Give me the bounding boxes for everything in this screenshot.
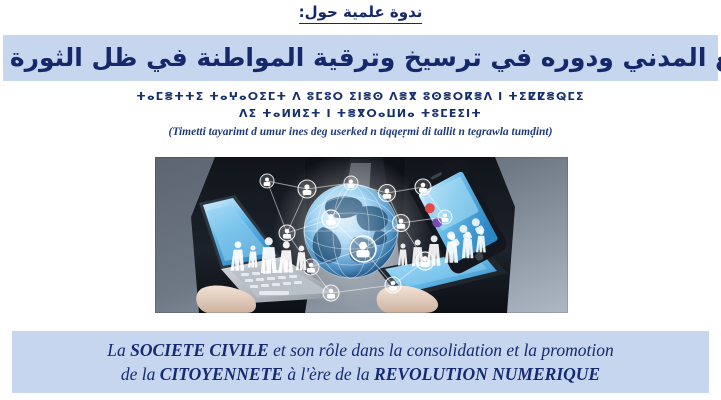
french-l1-tail: et son rôle dans la consolidation et la … xyxy=(269,340,614,360)
tifinagh-title-line-2: ⴷⵉ ⵜⴰⵍⵍⵉⵜ ⵏ ⵜⴻⴳⵔⴰⵡⵍⴰ ⵜⵓⵎⴹⵉⵏⵜ xyxy=(0,105,721,122)
french-emphasis-revolution-numerique: REVOLUTION NUMERIQUE xyxy=(374,364,600,384)
arabic-title-band: المجتمع المدني ودوره في ترسيخ وترقية الم… xyxy=(3,35,718,81)
french-l2-lead: de la xyxy=(121,364,160,384)
french-l2-mid: à l'ère de la xyxy=(283,364,374,384)
kicker-row: ندوة علمية حول: xyxy=(0,2,721,24)
french-subtitle-band: La SOCIETE CIVILE et son rôle dans la co… xyxy=(12,331,709,393)
tifinagh-title-line-1: ⵜⴰⵎⴻⵜⵜⵉ ⵜⴰⵖⴰⵔⵉⵎⵜ ⴷ ⵓⵎⵓⵔ ⵉⵏⴻⵙ ⴷⴻⴳ ⵓⵙⴻⵔⴽⴻⴷ… xyxy=(0,88,721,105)
seminar-kicker-arabic: ندوة علمية حول: xyxy=(299,2,423,24)
tifinagh-transliteration: (Timetti tayarimt d umur ines deg userke… xyxy=(0,124,721,141)
french-subtitle-line-2: de la CITOYENNETE à l'ère de la REVOLUTI… xyxy=(121,362,600,386)
poster-root: ندوة علمية حول: المجتمع المدني ودوره في … xyxy=(0,0,721,400)
arabic-main-title: المجتمع المدني ودوره في ترسيخ وترقية الم… xyxy=(0,41,721,75)
french-emphasis-societe-civile: SOCIETE CIVILE xyxy=(130,340,269,360)
french-l1-lead: La xyxy=(107,340,130,360)
french-emphasis-citoyennete: CITOYENNETE xyxy=(160,364,283,384)
french-subtitle-line-1: La SOCIETE CIVILE et son rôle dans la co… xyxy=(107,338,613,362)
tifinagh-block: ⵜⴰⵎⴻⵜⵜⵉ ⵜⴰⵖⴰⵔⵉⵎⵜ ⴷ ⵓⵎⵓⵔ ⵉⵏⴻⵙ ⴷⴻⴳ ⵓⵙⴻⵔⴽⴻⴷ… xyxy=(0,88,721,141)
hero-photo xyxy=(155,157,568,313)
hands-devices-globe-illustration xyxy=(155,157,568,313)
